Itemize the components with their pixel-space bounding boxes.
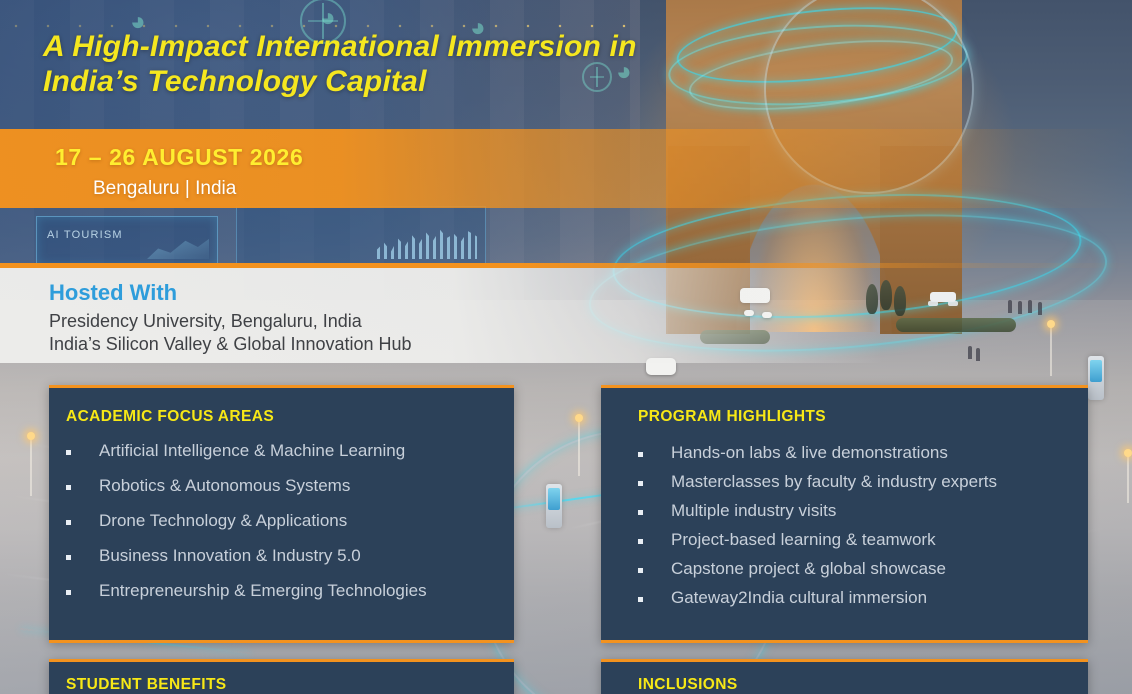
analytics-dashboard-panel: [236, 206, 486, 268]
card-academic-focus-areas: ACADEMIC FOCUS AREAS Artificial Intellig…: [49, 385, 514, 643]
card-title: ACADEMIC FOCUS AREAS: [66, 408, 274, 426]
host-tagline: India’s Silicon Valley & Global Innovati…: [49, 334, 412, 355]
list-item: Gateway2India cultural immersion: [638, 588, 1078, 608]
list-item: Robotics & Autonomous Systems: [66, 476, 504, 496]
card-inclusions: INCLUSIONS: [601, 659, 1088, 694]
list-item: Capstone project & global showcase: [638, 559, 1078, 579]
host-university: Presidency University, Bengaluru, India: [49, 311, 362, 332]
list-item: Hands-on labs & live demonstrations: [638, 443, 1078, 463]
hosted-with-heading: Hosted With: [49, 280, 177, 306]
card-title: PROGRAM HIGHLIGHTS: [638, 408, 826, 426]
street-lamp: [578, 420, 580, 476]
list-item: Masterclasses by faculty & industry expe…: [638, 472, 1078, 492]
ai-tourism-panel: AI TOURISM: [36, 216, 218, 266]
card-student-benefits: STUDENT BENEFITS: [49, 659, 514, 694]
program-highlights-list: Hands-on labs & live demonstrationsMaste…: [638, 443, 1078, 617]
ai-sparkline-chart: [147, 235, 209, 259]
kiosk-icon: [546, 484, 562, 528]
list-item: Artificial Intelligence & Machine Learni…: [66, 441, 504, 461]
list-item: Entrepreneurship & Emerging Technologies: [66, 581, 504, 601]
event-location: Bengaluru | India: [93, 178, 236, 200]
ai-tourism-label: AI TOURISM: [47, 229, 123, 241]
list-item: Multiple industry visits: [638, 501, 1078, 521]
street-lamp: [1127, 455, 1129, 503]
card-program-highlights: PROGRAM HIGHLIGHTS Hands-on labs & live …: [601, 385, 1088, 643]
page-title: A High-Impact International Immersion in…: [43, 30, 643, 100]
card-title: INCLUSIONS: [638, 676, 738, 694]
event-dates: 17 – 26 AUGUST 2026: [55, 144, 303, 171]
list-item: Drone Technology & Applications: [66, 511, 504, 531]
poster-canvas: ◕ ◕ ◕ ◕ AI TOURISM A High-Impact Interna…: [0, 0, 1132, 694]
list-item: Project-based learning & teamwork: [638, 530, 1078, 550]
street-lamp: [30, 438, 32, 496]
card-title: STUDENT BENEFITS: [66, 676, 227, 694]
dashboard-bar-chart: [377, 225, 477, 259]
academic-focus-list: Artificial Intelligence & Machine Learni…: [66, 441, 504, 616]
list-item: Business Innovation & Industry 5.0: [66, 546, 504, 566]
